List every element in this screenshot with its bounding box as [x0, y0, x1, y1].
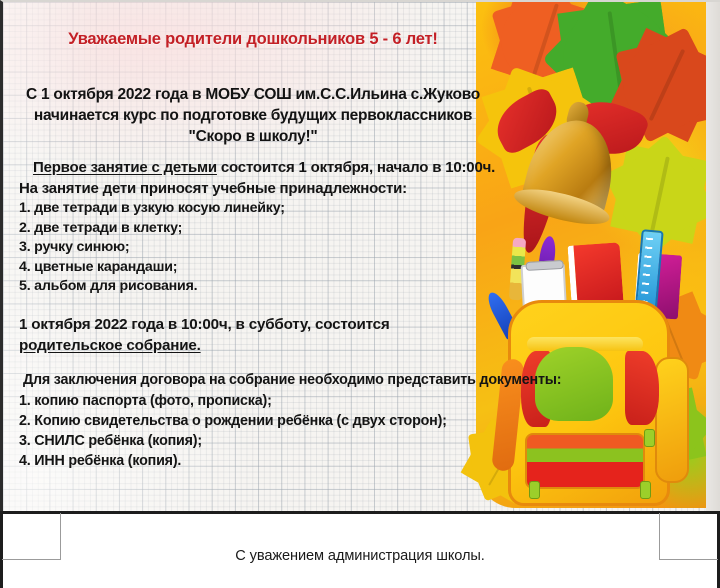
- backpack-side-pocket: [655, 357, 689, 483]
- footer-panel: С уважением администрация школы.: [0, 511, 720, 588]
- list-item: 2. две тетради в клетку;: [19, 219, 511, 239]
- course-line-2: начинается курс по подготовке будущих пе…: [3, 105, 503, 126]
- parent-meeting-block: 1 октября 2022 года в 10:00ч, в субботу,…: [19, 314, 511, 356]
- meeting-underlined: родительское собрание.: [19, 337, 201, 354]
- zipper-pull-icon: [644, 429, 655, 447]
- supplies-list: 1. две тетради в узкую косую линейку; 2.…: [19, 199, 511, 297]
- documents-list: 1. копию паспорта (фото, прописка); 2. К…: [19, 391, 511, 472]
- course-announcement: С 1 октября 2022 года в МОБУ СОШ им.С.С.…: [3, 84, 503, 147]
- documents-block: Для заключения договора на собрание необ…: [19, 370, 511, 471]
- course-line-3: "Скоро в школу!": [3, 126, 503, 147]
- footer-signature: С уважением администрация школы.: [3, 548, 717, 564]
- backpack-front-pocket: [525, 433, 645, 489]
- right-edge-strip: [706, 2, 720, 511]
- list-item: 4. ИНН ребёнка (копия).: [19, 451, 511, 471]
- zipper-pull-icon: [529, 481, 540, 499]
- first-lesson-underlined: Первое занятие с детьми: [33, 159, 217, 176]
- first-lesson-block: Первое занятие с детьми состоится 1 октя…: [19, 158, 511, 297]
- backpack-panel-right: [625, 351, 659, 425]
- list-item: 2. Копию свидетельства о рождении ребёнк…: [19, 411, 511, 431]
- zipper-pull-icon: [640, 481, 651, 499]
- list-item: 1. две тетради в узкую косую линейку;: [19, 199, 511, 219]
- first-lesson-lead: Первое занятие с детьми состоится 1 октя…: [19, 158, 511, 179]
- list-item: 1. копию паспорта (фото, прописка);: [19, 391, 511, 411]
- list-item: 3. СНИЛС ребёнка (копия);: [19, 431, 511, 451]
- meeting-line-2: родительское собрание.: [19, 335, 511, 356]
- backpack-icon: [508, 300, 670, 506]
- documents-intro: Для заключения договора на собрание необ…: [19, 370, 511, 391]
- meeting-line-1: 1 октября 2022 года в 10:00ч, в субботу,…: [19, 314, 511, 335]
- course-line-1: С 1 октября 2022 года в МОБУ СОШ им.С.С.…: [3, 84, 503, 105]
- announcement-page: Уважаемые родители дошкольников 5 - 6 ле…: [0, 0, 720, 588]
- list-item: 4. цветные карандаши;: [19, 258, 511, 278]
- poster-panel: Уважаемые родители дошкольников 5 - 6 ле…: [0, 0, 720, 511]
- supplies-intro: На занятие дети приносят учебные принадл…: [19, 179, 511, 200]
- poster-text-content: Уважаемые родители дошкольников 5 - 6 ле…: [3, 2, 523, 511]
- list-item: 5. альбом для рисования.: [19, 277, 511, 297]
- list-item: 3. ручку синюю;: [19, 238, 511, 258]
- poster-title: Уважаемые родители дошкольников 5 - 6 ле…: [3, 30, 503, 49]
- maple-leaf-icon: [610, 144, 710, 244]
- first-lesson-rest: состоится 1 октября, начало в 10:00ч.: [217, 159, 495, 176]
